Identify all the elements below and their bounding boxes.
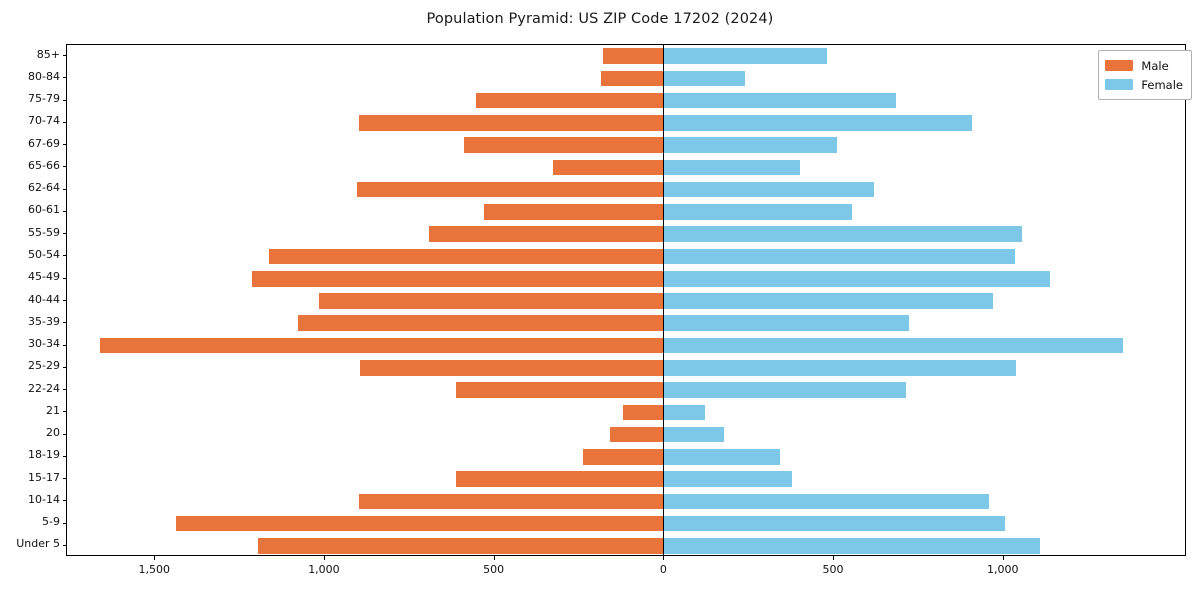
bar-male[interactable] <box>298 315 663 331</box>
y-tick-label: 40-44 <box>28 293 60 306</box>
x-tick-mark <box>154 556 155 560</box>
bar-row <box>67 449 1185 465</box>
bar-row <box>67 226 1185 242</box>
x-tick-mark <box>663 556 664 560</box>
bar-row <box>67 271 1185 287</box>
y-tick-label: 55-59 <box>28 226 60 239</box>
bar-male[interactable] <box>601 71 663 87</box>
bar-row <box>67 516 1185 532</box>
y-tick-mark <box>63 434 67 435</box>
bar-male[interactable] <box>258 538 663 554</box>
y-tick-label: 62-64 <box>28 181 60 194</box>
bar-male[interactable] <box>456 382 663 398</box>
y-tick-mark <box>63 456 67 457</box>
bar-row <box>67 71 1185 87</box>
bar-row <box>67 315 1185 331</box>
bar-female[interactable] <box>663 271 1050 287</box>
y-tick-mark <box>63 77 67 78</box>
chart-title: Population Pyramid: US ZIP Code 17202 (2… <box>0 11 1200 27</box>
x-tick-label: 0 <box>660 563 667 576</box>
zero-axis-line <box>663 45 664 555</box>
bar-female[interactable] <box>663 360 1016 376</box>
bar-row <box>67 293 1185 309</box>
bar-row <box>67 427 1185 443</box>
bar-female[interactable] <box>663 115 972 131</box>
y-tick-mark <box>63 211 67 212</box>
bar-female[interactable] <box>663 182 874 198</box>
y-tick-label: 45-49 <box>28 270 60 283</box>
y-tick-label: 18-19 <box>28 448 60 461</box>
bar-male[interactable] <box>484 204 663 220</box>
bar-female[interactable] <box>663 315 909 331</box>
bar-row <box>67 93 1185 109</box>
bar-female[interactable] <box>663 160 800 176</box>
y-tick-label: 50-54 <box>28 248 60 261</box>
y-tick-mark <box>63 255 67 256</box>
bar-male[interactable] <box>456 471 664 487</box>
y-tick-label: 80-84 <box>28 70 60 83</box>
bar-row <box>67 471 1185 487</box>
bar-female[interactable] <box>663 405 704 421</box>
y-tick-label: 65-66 <box>28 159 60 172</box>
bar-row <box>67 137 1185 153</box>
y-tick-mark <box>63 278 67 279</box>
y-tick-label: 21 <box>46 404 60 417</box>
legend-label-male: Male <box>1141 59 1168 73</box>
bar-row <box>67 204 1185 220</box>
bar-row <box>67 538 1185 554</box>
x-tick-mark <box>494 556 495 560</box>
y-tick-mark <box>63 545 67 546</box>
bar-row <box>67 249 1185 265</box>
y-tick-label: 10-14 <box>28 493 60 506</box>
chart-legend[interactable]: Male Female <box>1098 50 1192 100</box>
y-tick-mark <box>63 523 67 524</box>
bar-male[interactable] <box>610 427 663 443</box>
y-tick-mark <box>63 189 67 190</box>
y-tick-mark <box>63 55 67 56</box>
y-tick-mark <box>63 389 67 390</box>
bar-male[interactable] <box>603 48 664 64</box>
bar-female[interactable] <box>663 382 906 398</box>
bar-male[interactable] <box>359 115 663 131</box>
population-pyramid-figure: Population Pyramid: US ZIP Code 17202 (2… <box>0 0 1200 600</box>
bar-male[interactable] <box>357 182 663 198</box>
bar-male[interactable] <box>583 449 664 465</box>
bar-female[interactable] <box>663 494 989 510</box>
bar-male[interactable] <box>176 516 663 532</box>
x-tick-mark <box>324 556 325 560</box>
bar-male[interactable] <box>360 360 663 376</box>
bar-row <box>67 405 1185 421</box>
y-tick-label: 15-17 <box>28 471 60 484</box>
bar-male[interactable] <box>464 137 663 153</box>
y-tick-label: 22-24 <box>28 382 60 395</box>
y-tick-mark <box>63 166 67 167</box>
bar-row <box>67 382 1185 398</box>
legend-item-male: Male <box>1105 56 1183 75</box>
y-tick-label: 60-61 <box>28 203 60 216</box>
bar-male[interactable] <box>553 160 663 176</box>
y-tick-mark <box>63 300 67 301</box>
y-tick-mark <box>63 478 67 479</box>
y-tick-mark <box>63 345 67 346</box>
bar-female[interactable] <box>663 204 852 220</box>
y-tick-mark <box>63 144 67 145</box>
x-tick-label: 1,000 <box>308 563 340 576</box>
legend-swatch-female <box>1105 79 1133 90</box>
y-tick-label: 30-34 <box>28 337 60 350</box>
bar-female[interactable] <box>663 137 836 153</box>
bar-female[interactable] <box>663 293 992 309</box>
legend-item-female: Female <box>1105 75 1183 94</box>
bar-male[interactable] <box>476 93 663 109</box>
x-tick-mark <box>833 556 834 560</box>
y-tick-mark <box>63 411 67 412</box>
y-tick-label: Under 5 <box>16 537 60 550</box>
y-tick-label: 35-39 <box>28 315 60 328</box>
bar-female[interactable] <box>663 71 745 87</box>
x-tick-label: 500 <box>483 563 504 576</box>
legend-swatch-male <box>1105 60 1133 71</box>
x-tick-label: 500 <box>823 563 844 576</box>
y-tick-label: 25-29 <box>28 359 60 372</box>
bar-female[interactable] <box>663 226 1021 242</box>
legend-label-female: Female <box>1141 78 1183 92</box>
bar-male[interactable] <box>319 293 664 309</box>
y-tick-mark <box>63 500 67 501</box>
bar-female[interactable] <box>663 516 1004 532</box>
y-tick-label: 85+ <box>37 48 60 61</box>
bar-row <box>67 160 1185 176</box>
bar-row <box>67 494 1185 510</box>
bar-female[interactable] <box>663 93 896 109</box>
bar-female[interactable] <box>663 427 724 443</box>
x-tick-mark <box>1003 556 1004 560</box>
bar-row <box>67 182 1185 198</box>
bar-female[interactable] <box>663 471 792 487</box>
y-tick-label: 75-79 <box>28 92 60 105</box>
bar-male[interactable] <box>429 226 663 242</box>
plot-area <box>66 44 1186 556</box>
y-tick-label: 20 <box>46 426 60 439</box>
y-tick-mark <box>63 367 67 368</box>
x-tick-label: 1,500 <box>138 563 170 576</box>
y-tick-mark <box>63 100 67 101</box>
bar-female[interactable] <box>663 249 1015 265</box>
y-tick-mark <box>63 233 67 234</box>
bar-female[interactable] <box>663 538 1040 554</box>
y-tick-label: 67-69 <box>28 137 60 150</box>
bar-row <box>67 338 1185 354</box>
bar-row <box>67 48 1185 64</box>
y-tick-label: 70-74 <box>28 114 60 127</box>
bar-male[interactable] <box>623 405 663 421</box>
bar-male[interactable] <box>252 271 664 287</box>
bar-female[interactable] <box>663 449 780 465</box>
y-tick-mark <box>63 122 67 123</box>
x-tick-label: 1,000 <box>987 563 1019 576</box>
bar-male[interactable] <box>359 494 663 510</box>
bar-male[interactable] <box>269 249 664 265</box>
bar-male[interactable] <box>100 338 663 354</box>
bar-female[interactable] <box>663 338 1122 354</box>
bar-row <box>67 360 1185 376</box>
bars-layer <box>67 45 1185 555</box>
y-tick-mark <box>63 322 67 323</box>
y-tick-label: 5-9 <box>42 515 60 528</box>
bar-female[interactable] <box>663 48 827 64</box>
bar-row <box>67 115 1185 131</box>
